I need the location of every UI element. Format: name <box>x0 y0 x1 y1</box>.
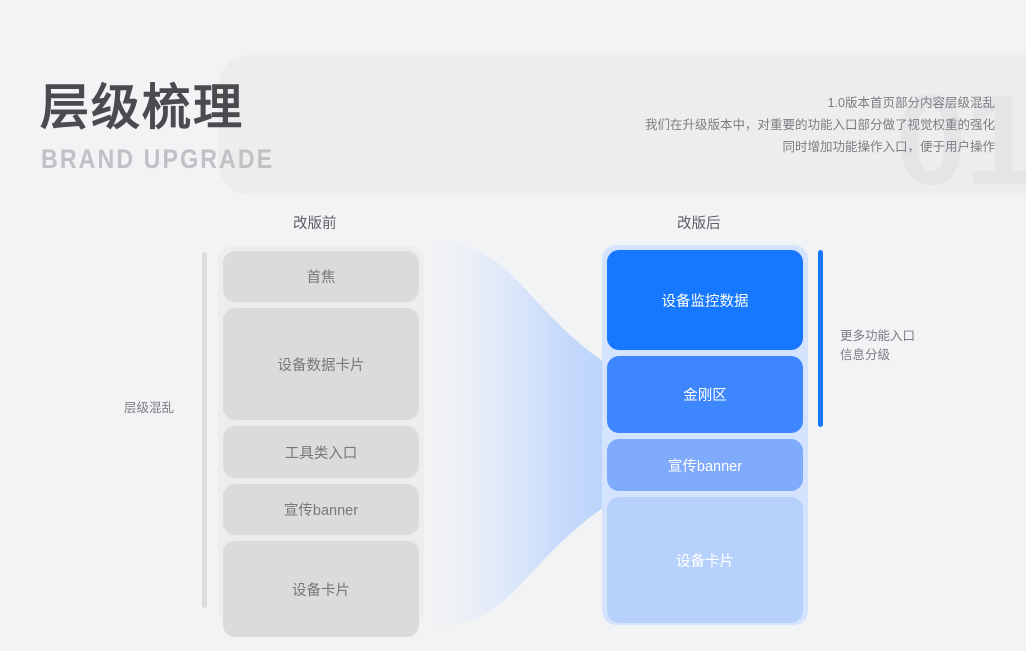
page-title: 层级梳理 <box>40 83 244 134</box>
card-label: 首焦 <box>307 266 336 287</box>
slide-canvas: 01 层级梳理 BRAND UPGRADE 1.0版本首页部分内容层级混乱 我们… <box>0 0 1026 651</box>
card-before-3[interactable]: 工具类入口 <box>223 426 419 478</box>
funnel-connector-icon <box>420 243 615 625</box>
card-before-5[interactable]: 设备卡片 <box>223 541 419 637</box>
column-after: 设备监控数据 金刚区 宣传banner 设备卡片 <box>602 245 808 625</box>
header-description-line: 同时增加功能操作入口，便于用户操作 <box>645 136 995 158</box>
card-after-3[interactable]: 宣传banner <box>607 439 803 491</box>
card-label: 金刚区 <box>683 384 727 405</box>
column-before: 首焦 设备数据卡片 工具类入口 宣传banner 设备卡片 <box>218 246 424 623</box>
after-column-note: 更多功能入口 信息分级 <box>840 327 915 365</box>
card-label: 宣传banner <box>284 499 358 520</box>
card-before-1[interactable]: 首焦 <box>223 251 419 302</box>
card-label: 设备卡片 <box>292 579 350 600</box>
after-column-note-line: 更多功能入口 <box>840 327 915 346</box>
after-column-note-line: 信息分级 <box>840 346 915 365</box>
card-label: 设备数据卡片 <box>278 354 365 375</box>
card-label: 宣传banner <box>668 455 742 476</box>
card-before-4[interactable]: 宣传banner <box>223 484 419 535</box>
card-before-2[interactable]: 设备数据卡片 <box>223 308 419 420</box>
card-label: 设备监控数据 <box>662 290 749 311</box>
header-description-line: 我们在升级版本中，对重要的功能入口部分做了视觉权重的强化 <box>645 114 995 136</box>
before-column-rail <box>202 252 207 608</box>
card-after-2[interactable]: 金刚区 <box>607 356 803 433</box>
card-label: 工具类入口 <box>285 442 358 463</box>
before-column-note: 层级混乱 <box>124 399 174 418</box>
card-after-4[interactable]: 设备卡片 <box>607 497 803 623</box>
header-description-line: 1.0版本首页部分内容层级混乱 <box>645 92 995 114</box>
column-caption-before: 改版前 <box>293 212 337 233</box>
column-caption-after: 改版后 <box>677 212 721 233</box>
after-column-rail <box>818 250 823 427</box>
page-subtitle: BRAND UPGRADE <box>41 146 274 173</box>
header-description: 1.0版本首页部分内容层级混乱 我们在升级版本中，对重要的功能入口部分做了视觉权… <box>645 92 995 158</box>
card-after-1[interactable]: 设备监控数据 <box>607 250 803 350</box>
card-label: 设备卡片 <box>676 550 734 571</box>
